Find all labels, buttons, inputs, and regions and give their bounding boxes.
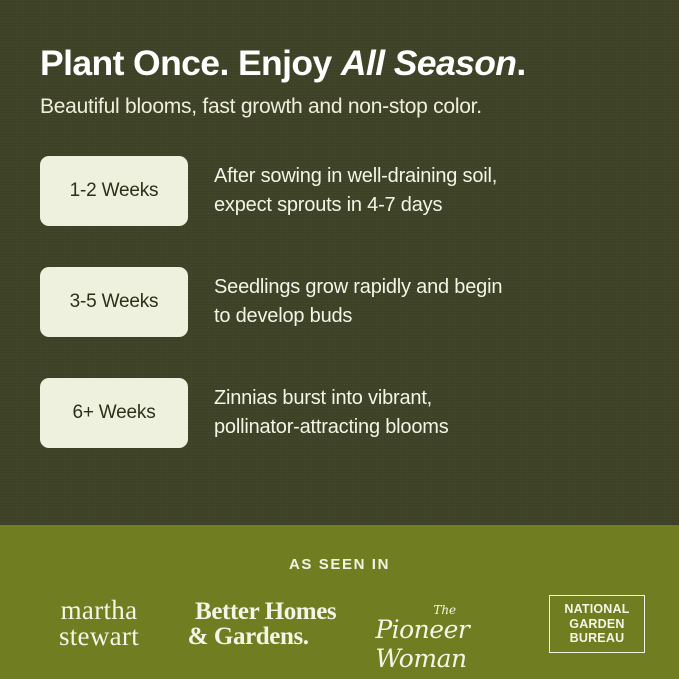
timeline-description-line-1: Zinnias burst into vibrant, <box>214 387 432 409</box>
better-homes-and-gardens-logo: Better Homes & Gardens. <box>186 595 346 653</box>
timeline-stage-label: 1-2 Weeks <box>70 180 159 202</box>
timeline-description-line-1: After sowing in well-draining soil, <box>214 165 497 187</box>
timeline-description-line-2: to develop buds <box>214 302 502 331</box>
page-subtitle: Beautiful blooms, fast growth and non-st… <box>40 84 639 120</box>
timeline-row: 6+ Weeks Zinnias burst into vibrant, pol… <box>40 378 639 448</box>
timeline-row: 3-5 Weeks Seedlings grow rapidly and beg… <box>40 267 639 337</box>
national-garden-bureau-logo: NATIONAL GARDEN BUREAU <box>549 595 645 653</box>
headline-part-2: . <box>516 43 525 83</box>
promo-poster: Plant Once. Enjoy All Season. Beautiful … <box>0 0 679 679</box>
press-logo-row: martha stewart Better Homes & Gardens. T… <box>0 595 679 653</box>
timeline-description-line-2: expect sprouts in 4-7 days <box>214 191 497 220</box>
press-band: AS SEEN IN martha stewart Better Homes &… <box>0 525 679 679</box>
national-garden-bureau-logo-line-3: BUREAU <box>570 631 625 646</box>
martha-stewart-logo-line-2: stewart <box>59 624 139 650</box>
timeline-stage-badge: 6+ Weeks <box>40 378 188 448</box>
press-band-title: AS SEEN IN <box>289 556 390 573</box>
growth-timeline: 1-2 Weeks After sowing in well-draining … <box>40 156 639 448</box>
timeline-description: Seedlings grow rapidly and begin to deve… <box>214 273 502 331</box>
timeline-description-line-2: pollinator-attracting blooms <box>214 413 449 442</box>
timeline-stage-label: 6+ Weeks <box>72 402 155 424</box>
better-homes-logo-line-1: Better Homes <box>195 599 336 624</box>
the-pioneer-woman-logo: The Pioneer Woman <box>367 595 527 653</box>
timeline-stage-badge: 3-5 Weeks <box>40 267 188 337</box>
pioneer-woman-logo-line-2: Pioneer Woman <box>375 615 527 673</box>
timeline-stage-badge: 1-2 Weeks <box>40 156 188 226</box>
national-garden-bureau-logo-line-2: GARDEN <box>569 617 624 632</box>
timeline-row: 1-2 Weeks After sowing in well-draining … <box>40 156 639 226</box>
national-garden-bureau-logo-line-1: NATIONAL <box>564 602 629 617</box>
timeline-stage-label: 3-5 Weeks <box>70 291 159 313</box>
timeline-description: After sowing in well-draining soil, expe… <box>214 162 497 220</box>
better-homes-logo-line-2: & Gardens. <box>186 624 309 649</box>
martha-stewart-logo: martha stewart <box>34 595 164 653</box>
hero-panel: Plant Once. Enjoy All Season. Beautiful … <box>0 0 679 525</box>
page-title: Plant Once. Enjoy All Season. <box>40 0 639 84</box>
headline-part-1: Plant Once. Enjoy <box>40 43 341 83</box>
timeline-description: Zinnias burst into vibrant, pollinator-a… <box>214 384 449 442</box>
timeline-description-line-1: Seedlings grow rapidly and begin <box>214 276 502 298</box>
headline-emphasis: All Season <box>341 43 517 83</box>
